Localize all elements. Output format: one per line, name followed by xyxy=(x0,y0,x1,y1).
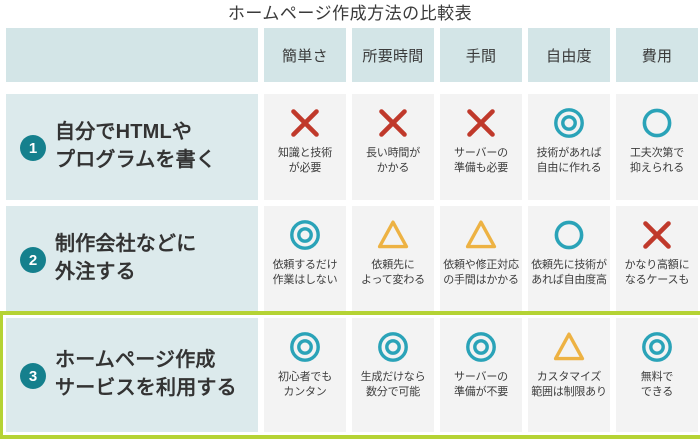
rating-cell: 生成だけなら数分で可能 xyxy=(352,318,434,432)
rating-cell: 技術があれば自由に作れる xyxy=(528,94,610,200)
row-label-cell: 3ホームページ作成サービスを利用する xyxy=(6,318,258,432)
rating-caption-line2: 準備も必要 xyxy=(454,161,508,176)
rating-caption-line1: 生成だけなら xyxy=(361,370,426,385)
rating-caption-line1: サーバーの xyxy=(454,370,508,385)
row-label-cell: 1自分でHTMLやプログラムを書く xyxy=(6,94,258,200)
rating-cell: 長い時間がかかる xyxy=(352,94,434,200)
rating-cell: 依頼先によって変わる xyxy=(352,206,434,312)
rating-caption-line1: サーバーの xyxy=(454,146,508,161)
rating-caption-line1: 依頼先に xyxy=(361,258,425,273)
rating-caption: 依頼するだけ作業はしない xyxy=(271,258,340,288)
rating-caption-line1: 工夫次第で xyxy=(630,146,684,161)
rating-caption-line2: が必要 xyxy=(278,161,332,176)
rating-caption-line1: 知識と技術 xyxy=(278,146,332,161)
rating-cell: 依頼や修正対応の手間はかかる xyxy=(440,206,522,312)
rating-caption-line2: あれば自由度高 xyxy=(531,273,607,288)
double-circle-icon xyxy=(376,330,410,364)
rating-caption: 初心者でもカンタン xyxy=(276,370,334,400)
header-cell-cost: 費用 xyxy=(616,28,698,82)
header-cell-time: 所要時間 xyxy=(352,28,434,82)
row-label-line2: 外注する xyxy=(55,259,196,287)
rating-caption: 工夫次第で抑えられる xyxy=(628,146,686,176)
rating-caption: カスタマイズ範囲は制限あり xyxy=(529,370,609,400)
rating-caption: 依頼や修正対応の手間はかかる xyxy=(441,258,521,288)
circle-icon xyxy=(640,106,674,140)
table-row: 3ホームページ作成サービスを利用する初心者でもカンタン生成だけなら数分で可能サー… xyxy=(6,318,698,432)
rating-caption-line1: 依頼するだけ xyxy=(273,258,338,273)
row-label-cell: 2制作会社などに外注する xyxy=(6,206,258,312)
header-cell-label xyxy=(6,28,258,82)
cross-icon xyxy=(376,106,410,140)
rating-caption: 知識と技術が必要 xyxy=(276,146,334,176)
rating-caption-line1: 依頼や修正対応 xyxy=(443,258,519,273)
rating-caption: サーバーの準備も必要 xyxy=(452,146,510,176)
table-row: 1自分でHTMLやプログラムを書く知識と技術が必要長い時間がかかるサーバーの準備… xyxy=(6,94,698,200)
rating-caption-line1: 長い時間が xyxy=(366,146,420,161)
row-number-badge: 3 xyxy=(20,363,46,389)
double-circle-icon xyxy=(464,330,498,364)
triangle-icon xyxy=(552,330,586,364)
rating-caption-line2: なるケースも xyxy=(625,273,690,288)
double-circle-icon xyxy=(288,218,322,252)
row-label-line2: サービスを利用する xyxy=(55,375,237,403)
header-cell-freedom: 自由度 xyxy=(528,28,610,82)
rating-cell: 工夫次第で抑えられる xyxy=(616,94,698,200)
header-cell-easy: 簡単さ xyxy=(264,28,346,82)
row-label-text: 自分でHTMLやプログラムを書く xyxy=(55,119,216,174)
rating-caption: 無料でできる xyxy=(639,370,675,400)
rating-caption: 技術があれば自由に作れる xyxy=(535,146,604,176)
rating-caption-line2: 抑えられる xyxy=(630,161,684,176)
row-label-line2: プログラムを書く xyxy=(55,147,216,175)
comparison-table: 簡単さ 所要時間 手間 自由度 費用 1自分でHTMLやプログラムを書く知識と技… xyxy=(6,28,698,432)
rating-cell: かなり高額になるケースも xyxy=(616,206,698,312)
rating-caption-line1: 初心者でも xyxy=(278,370,332,385)
cross-icon xyxy=(288,106,322,140)
double-circle-icon xyxy=(288,330,322,364)
rating-caption-line2: 数分で可能 xyxy=(361,385,426,400)
rating-caption-line1: 無料で xyxy=(641,370,673,385)
header-effort-text: 手間 xyxy=(466,45,497,66)
rating-caption: 長い時間がかかる xyxy=(364,146,422,176)
row-number-badge: 1 xyxy=(20,135,46,161)
rating-caption-line2: かかる xyxy=(366,161,420,176)
triangle-icon xyxy=(376,218,410,252)
row-number-badge: 2 xyxy=(20,247,46,273)
row-label-text: 制作会社などに外注する xyxy=(55,231,196,286)
rating-caption: かなり高額になるケースも xyxy=(623,258,692,288)
row-label-line1: ホームページ作成 xyxy=(55,349,216,371)
rating-caption-line1: 依頼先に技術が xyxy=(531,258,607,273)
row-label-line1: 自分でHTMLや xyxy=(55,121,192,143)
rating-cell: 無料でできる xyxy=(616,318,698,432)
table-header-row: 簡単さ 所要時間 手間 自由度 費用 xyxy=(6,28,698,82)
rating-cell: サーバーの準備が不要 xyxy=(440,318,522,432)
rating-caption-line2: できる xyxy=(641,385,673,400)
rating-cell: 依頼するだけ作業はしない xyxy=(264,206,346,312)
row-label-line1: 制作会社などに xyxy=(55,233,196,255)
rating-cell: カスタマイズ範囲は制限あり xyxy=(528,318,610,432)
rating-caption-line2: 作業はしない xyxy=(273,273,338,288)
rating-caption-line2: 範囲は制限あり xyxy=(531,385,607,400)
circle-icon xyxy=(552,218,586,252)
rating-caption: サーバーの準備が不要 xyxy=(452,370,510,400)
rating-cell: サーバーの準備も必要 xyxy=(440,94,522,200)
rating-cell: 知識と技術が必要 xyxy=(264,94,346,200)
rating-caption: 依頼先に技術があれば自由度高 xyxy=(529,258,609,288)
rating-caption-line2: の手間はかかる xyxy=(443,273,519,288)
rating-cell: 依頼先に技術があれば自由度高 xyxy=(528,206,610,312)
rating-caption-line2: 自由に作れる xyxy=(537,161,602,176)
table-row: 2制作会社などに外注する依頼するだけ作業はしない依頼先によって変わる依頼や修正対… xyxy=(6,206,698,312)
triangle-icon xyxy=(464,218,498,252)
rating-caption-line1: かなり高額に xyxy=(625,258,690,273)
header-easy-text: 簡単さ xyxy=(282,45,328,66)
rating-caption-line2: 準備が不要 xyxy=(454,385,508,400)
rating-caption-line2: カンタン xyxy=(278,385,332,400)
header-cell-effort: 手間 xyxy=(440,28,522,82)
table-body: 1自分でHTMLやプログラムを書く知識と技術が必要長い時間がかかるサーバーの準備… xyxy=(6,94,698,432)
header-freedom-text: 自由度 xyxy=(546,45,592,66)
double-circle-icon xyxy=(640,330,674,364)
page-title: ホームページ作成方法の比較表 xyxy=(0,2,700,26)
header-time-text: 所要時間 xyxy=(362,45,423,66)
cross-icon xyxy=(640,218,674,252)
rating-caption-line2: よって変わる xyxy=(361,273,425,288)
header-cost-text: 費用 xyxy=(642,45,673,66)
rating-caption: 生成だけなら数分で可能 xyxy=(359,370,428,400)
rating-caption-line1: カスタマイズ xyxy=(531,370,607,385)
rating-caption-line1: 技術があれば xyxy=(537,146,602,161)
row-label-text: ホームページ作成サービスを利用する xyxy=(55,347,237,402)
comparison-table-page: ホームページ作成方法の比較表 簡単さ 所要時間 手間 自由度 費用 1自分 xyxy=(0,0,700,441)
rating-caption: 依頼先によって変わる xyxy=(359,258,427,288)
rating-cell: 初心者でもカンタン xyxy=(264,318,346,432)
cross-icon xyxy=(464,106,498,140)
double-circle-icon xyxy=(552,106,586,140)
